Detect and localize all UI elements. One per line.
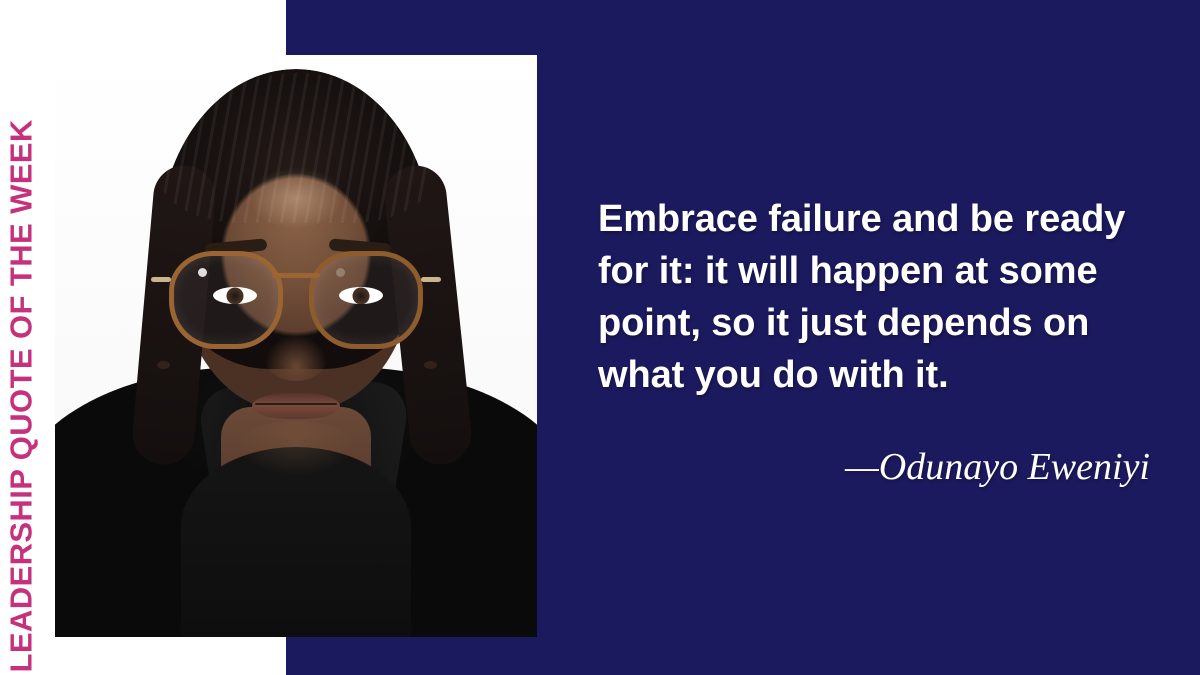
- photo-backdrop: [55, 55, 537, 637]
- mouth-shape: [252, 393, 340, 419]
- glasses-temple-left: [151, 277, 171, 282]
- quote-attribution: —Odunayo Eweniyi: [598, 445, 1150, 491]
- nostril-left: [157, 361, 170, 369]
- lens-glare-right: [336, 268, 345, 277]
- quote-card: LEADERSHIP QUOTE OF THE WEEK: [0, 0, 1200, 675]
- forehead-highlight: [248, 167, 344, 229]
- eyeglasses: [169, 251, 423, 341]
- chin-shading: [236, 421, 356, 475]
- lens-right: [309, 251, 423, 349]
- lens-glare-left: [198, 268, 207, 277]
- quote-text: Embrace failure and be ready for it: it …: [598, 193, 1150, 401]
- lens-left: [169, 251, 283, 349]
- nose-shape: [265, 335, 327, 381]
- banner-label: LEADERSHIP QUOTE OF THE WEEK: [1, 0, 41, 675]
- nostril-right: [424, 361, 437, 369]
- glasses-temple-right: [421, 277, 441, 282]
- vertical-banner-rail: LEADERSHIP QUOTE OF THE WEEK: [0, 0, 40, 675]
- lip-line: [255, 403, 337, 405]
- glasses-bridge: [272, 273, 320, 278]
- portrait-photo: [55, 55, 537, 637]
- quote-block: Embrace failure and be ready for it: it …: [598, 193, 1150, 401]
- tshirt-shape: [181, 447, 411, 637]
